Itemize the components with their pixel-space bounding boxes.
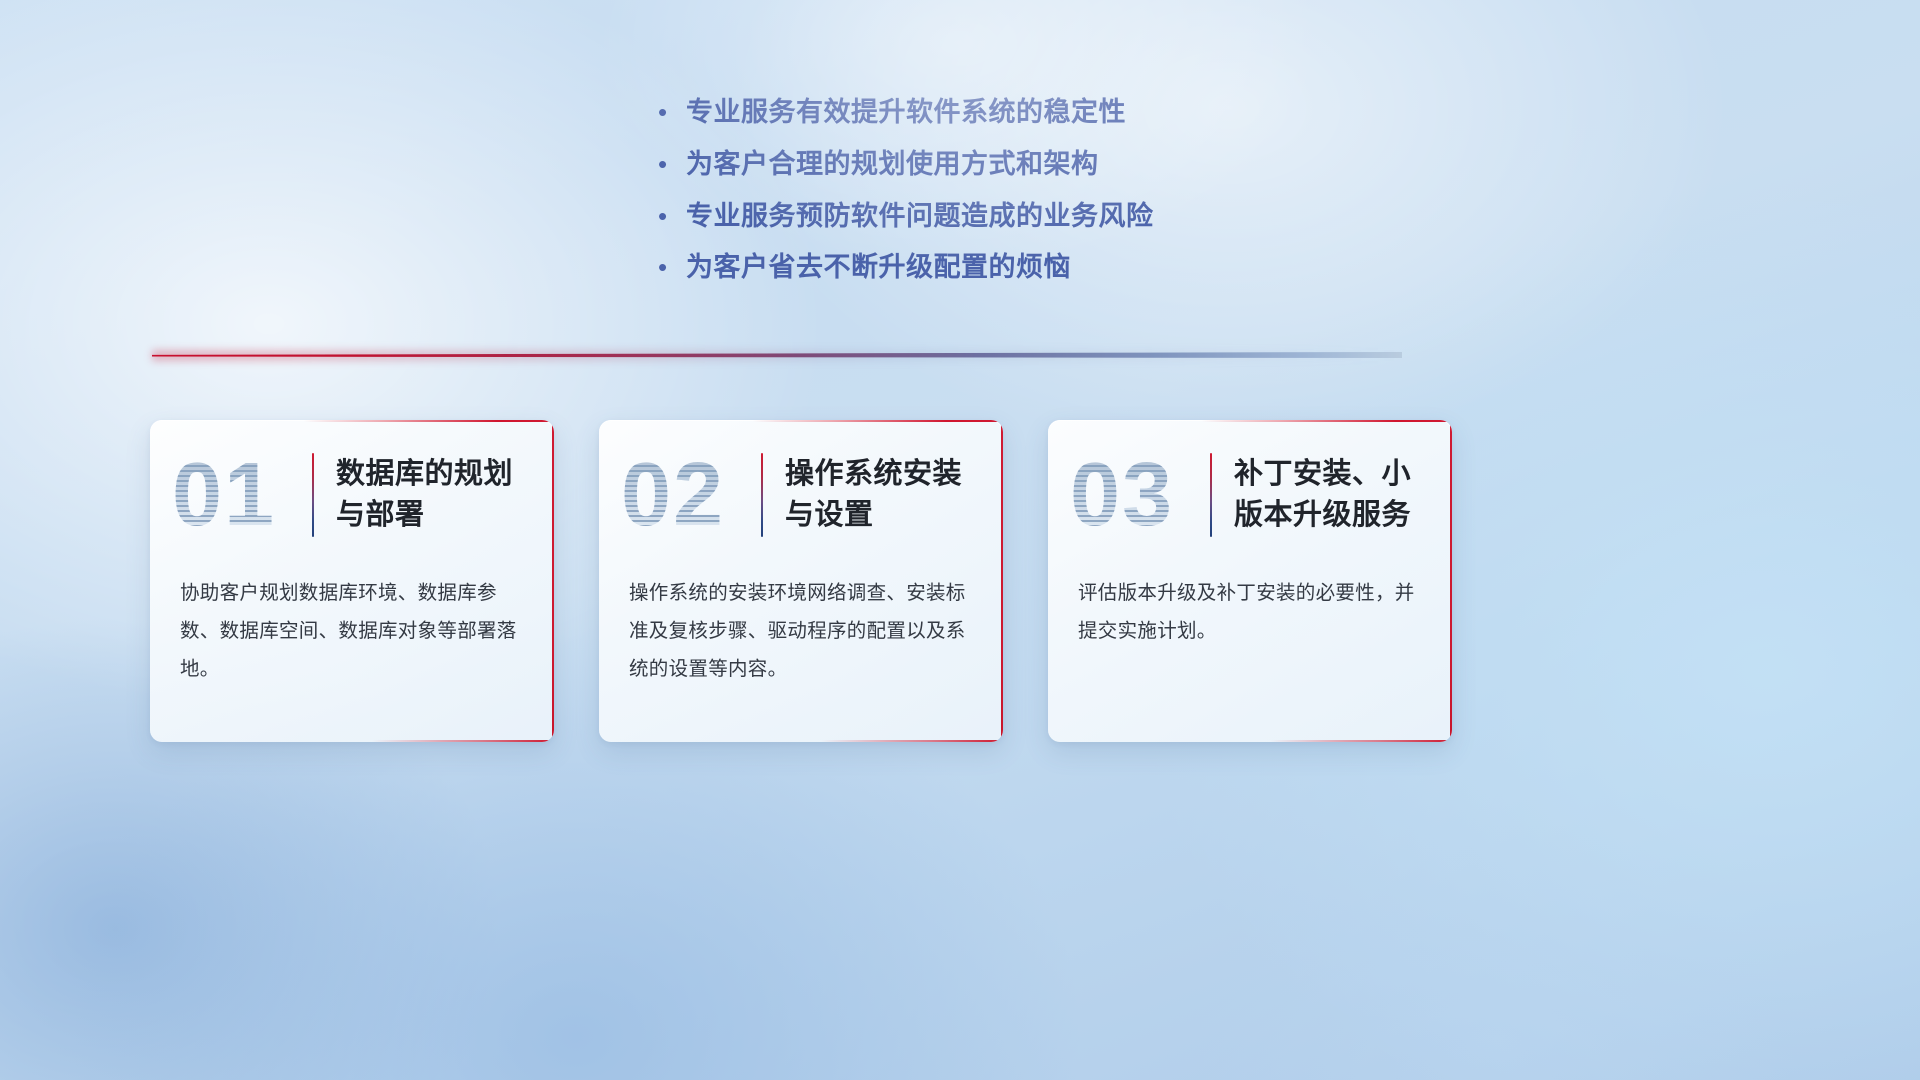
list-item: • 专业服务预防软件问题造成的业务风险 (650, 200, 1270, 234)
card-number-watermark: 02 02 (621, 443, 753, 547)
card-description: 协助客户规划数据库环境、数据库参数、数据库空间、数据库对象等部署落地。 (150, 570, 554, 688)
bullet-text: 为客户合理的规划使用方式和架构 (686, 148, 1099, 182)
card-header: 01 01 数据库的规划与部署 (150, 420, 554, 570)
card-title: 操作系统安装与设置 (785, 454, 977, 536)
card-number-text: 03 (1070, 450, 1174, 540)
section-divider (152, 348, 1402, 362)
card-vertical-rule (312, 453, 314, 537)
list-item: • 为客户合理的规划使用方式和架构 (650, 148, 1270, 182)
card-number-text: 02 (621, 450, 725, 540)
card-description: 评估版本升级及补丁安装的必要性，并提交实施计划。 (1048, 570, 1452, 650)
bullet-point-icon: • (650, 203, 686, 229)
bullet-text: 为客户省去不断升级配置的烦恼 (686, 251, 1071, 285)
bullet-text: 专业服务有效提升软件系统的稳定性 (686, 96, 1126, 130)
bullet-text: 专业服务预防软件问题造成的业务风险 (686, 200, 1154, 234)
card-accent-bottom (1048, 740, 1452, 742)
bullet-point-icon: • (650, 99, 686, 125)
service-card-group: 01 01 数据库的规划与部署 协助客户规划数据库环境、数据库参数、数据库空间、… (150, 420, 1770, 742)
list-item: • 为客户省去不断升级配置的烦恼 (650, 251, 1270, 285)
card-description: 操作系统的安装环境网络调查、安装标准及复核步骤、驱动程序的配置以及系统的设置等内… (599, 570, 1003, 688)
card-number-watermark: 01 01 (172, 443, 304, 547)
service-card-03[interactable]: 03 03 补丁安装、小版本升级服务 评估版本升级及补丁安装的必要性，并提交实施… (1048, 420, 1452, 742)
service-card-02[interactable]: 02 02 操作系统安装与设置 操作系统的安装环境网络调查、安装标准及复核步骤、… (599, 420, 1003, 742)
card-header: 02 02 操作系统安装与设置 (599, 420, 1003, 570)
slide-canvas: • 专业服务有效提升软件系统的稳定性 • 为客户合理的规划使用方式和架构 • 专… (0, 0, 1920, 1080)
card-number-text: 01 (172, 450, 276, 540)
card-number-watermark: 03 03 (1070, 443, 1202, 547)
bullet-point-icon: • (650, 254, 686, 280)
card-vertical-rule (761, 453, 763, 537)
card-vertical-rule (1210, 453, 1212, 537)
card-accent-bottom (599, 740, 1003, 742)
benefits-bullet-list: • 专业服务有效提升软件系统的稳定性 • 为客户合理的规划使用方式和架构 • 专… (0, 96, 1920, 303)
card-accent-bottom (150, 740, 554, 742)
card-header: 03 03 补丁安装、小版本升级服务 (1048, 420, 1452, 570)
list-item: • 专业服务有效提升软件系统的稳定性 (650, 96, 1270, 130)
card-title: 数据库的规划与部署 (336, 454, 528, 536)
service-card-01[interactable]: 01 01 数据库的规划与部署 协助客户规划数据库环境、数据库参数、数据库空间、… (150, 420, 554, 742)
card-title: 补丁安装、小版本升级服务 (1234, 454, 1426, 536)
bullet-point-icon: • (650, 151, 686, 177)
